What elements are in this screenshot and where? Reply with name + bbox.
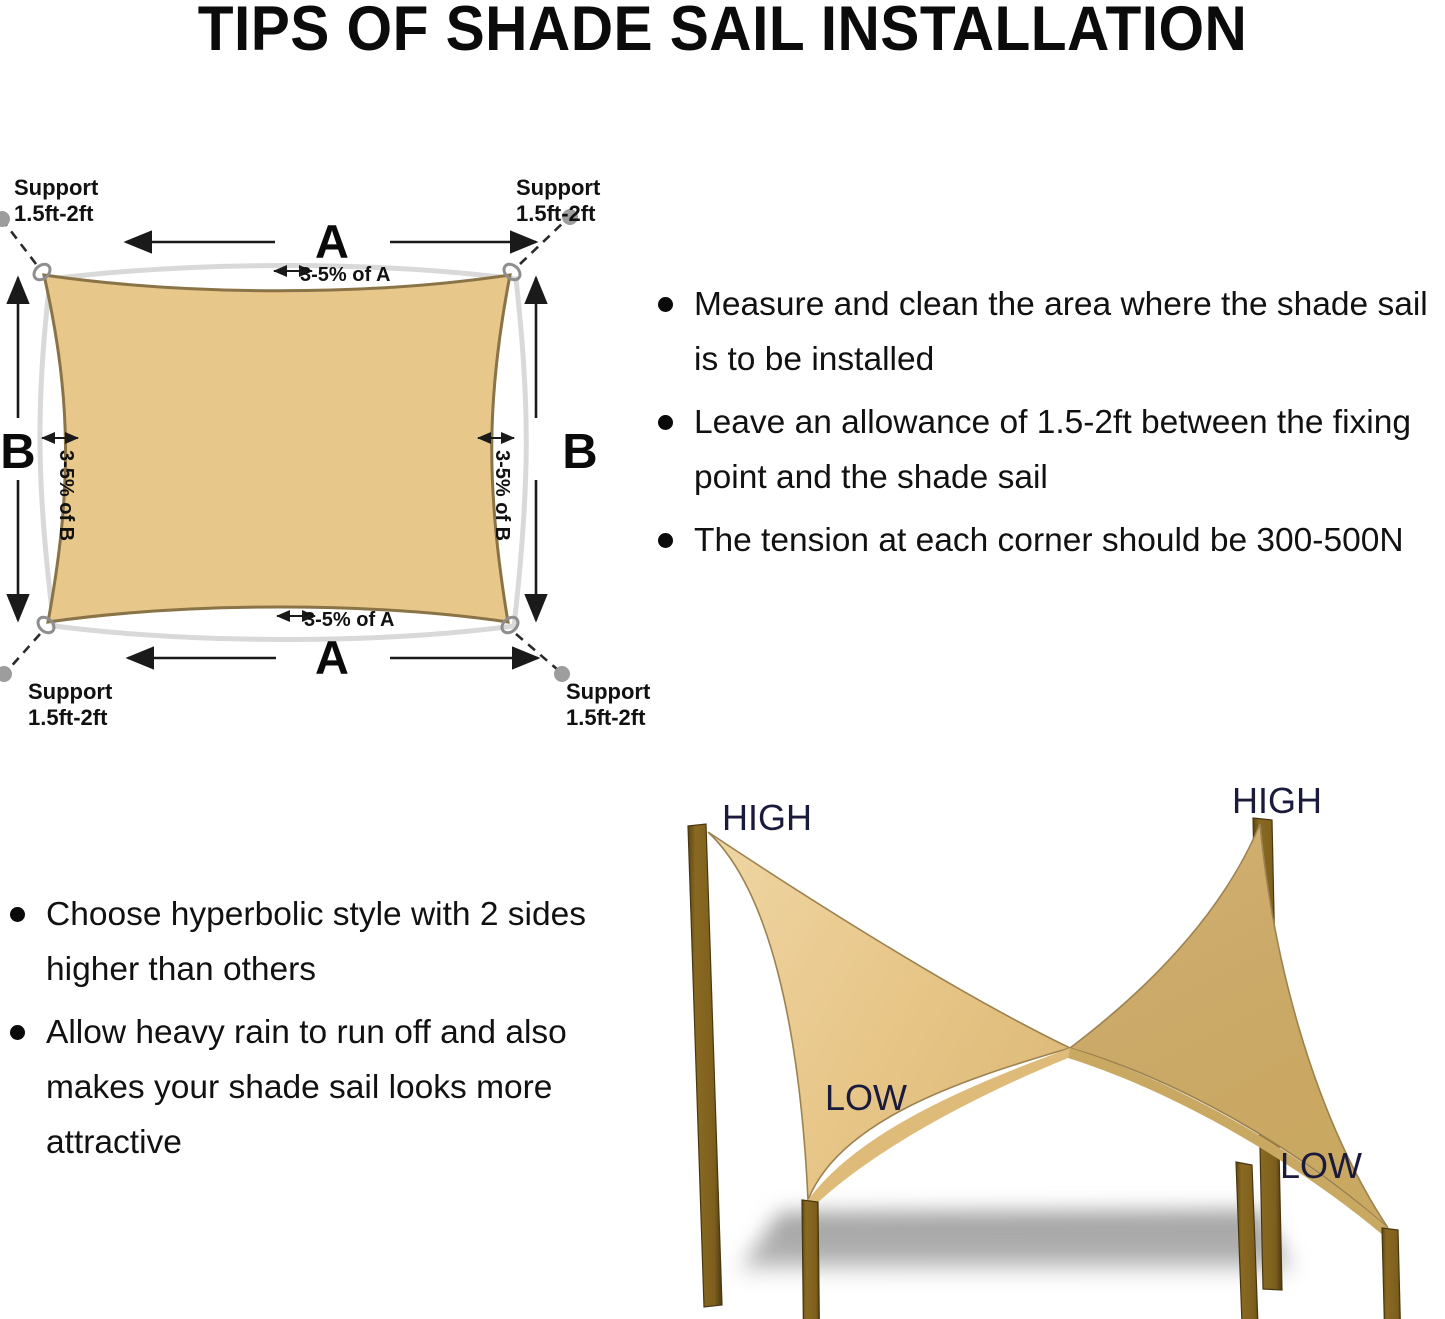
list-item: Leave an allowance of 1.5-2ft between th…: [648, 396, 1445, 506]
list-item: Allow heavy rain to run off and also mak…: [0, 1006, 620, 1171]
support-label-top-left-line2: 1.5ft-2ft: [14, 201, 94, 226]
dimension-label-a-top: A: [315, 215, 349, 268]
corner-label-low-left: LOW: [825, 1077, 907, 1118]
page-title: TIPS OF SHADE SAIL INSTALLATION: [51, 0, 1395, 60]
corner-label-high-right: HIGH: [1232, 780, 1322, 821]
pole-high-left: [688, 824, 722, 1307]
curve-depth-label-bottom: 3-5% of A: [304, 609, 394, 631]
curve-depth-label-left: 3-5% of B: [55, 450, 77, 541]
infographic-page: TIPS OF SHADE SAIL INSTALLATION: [0, 0, 1445, 1319]
bullet-dot-icon: [658, 415, 673, 430]
curve-depth-label-top: 3-5% of A: [300, 264, 390, 286]
dimension-label-b-right: B: [562, 425, 597, 479]
bullet-dot-icon: [10, 1025, 25, 1040]
pole-low-left: [802, 1200, 820, 1319]
tip-text: Leave an allowance of 1.5-2ft between th…: [694, 396, 1445, 506]
dimension-label-b-left: B: [0, 425, 35, 479]
tip-text: Measure and clean the area where the sha…: [694, 278, 1445, 388]
curve-depth-label-right: 3-5% of B: [491, 450, 513, 541]
tip-text: Allow heavy rain to run off and also mak…: [46, 1006, 620, 1171]
list-item: Measure and clean the area where the sha…: [648, 278, 1445, 388]
support-label-bottom-left-line2: 1.5ft-2ft: [28, 705, 108, 730]
support-line: [516, 634, 558, 670]
hyperbolic-sail-diagram: HIGH HIGH LOW LOW: [660, 780, 1445, 1319]
support-label-top-right-line1: Support: [516, 175, 601, 200]
support-label-top-right-line2: 1.5ft-2ft: [516, 201, 596, 226]
tips-list-top: Measure and clean the area where the sha…: [648, 278, 1445, 577]
support-dot-icon: [0, 666, 12, 682]
support-line: [4, 222, 36, 264]
support-label-bottom-left-line1: Support: [28, 679, 113, 704]
support-dot-icon: [0, 211, 10, 227]
shade-sail-shape: [44, 275, 510, 622]
corner-label-high-left: HIGH: [722, 797, 812, 838]
bullet-dot-icon: [10, 907, 25, 922]
corner-label-low-right: LOW: [1280, 1145, 1362, 1186]
support-label-bottom-right-line2: 1.5ft-2ft: [566, 705, 646, 730]
support-label-top-left-line1: Support: [14, 175, 99, 200]
support-label-bottom-right-line1: Support: [566, 679, 651, 704]
tips-list-bottom: Choose hyperbolic style with 2 sides hig…: [0, 888, 620, 1179]
list-item: The tension at each corner should be 300…: [648, 514, 1445, 569]
dimension-label-a-bottom: A: [315, 631, 349, 684]
rectangular-sail-diagram: A 3-5% of A A 3-5% of A B 3-5% of B B: [0, 150, 660, 730]
tip-text: Choose hyperbolic style with 2 sides hig…: [46, 888, 620, 998]
support-line: [8, 634, 40, 670]
bullet-dot-icon: [658, 533, 673, 548]
tip-text: The tension at each corner should be 300…: [694, 514, 1445, 569]
list-item: Choose hyperbolic style with 2 sides hig…: [0, 888, 620, 998]
pole-low-right: [1382, 1228, 1402, 1319]
bullet-dot-icon: [658, 297, 673, 312]
